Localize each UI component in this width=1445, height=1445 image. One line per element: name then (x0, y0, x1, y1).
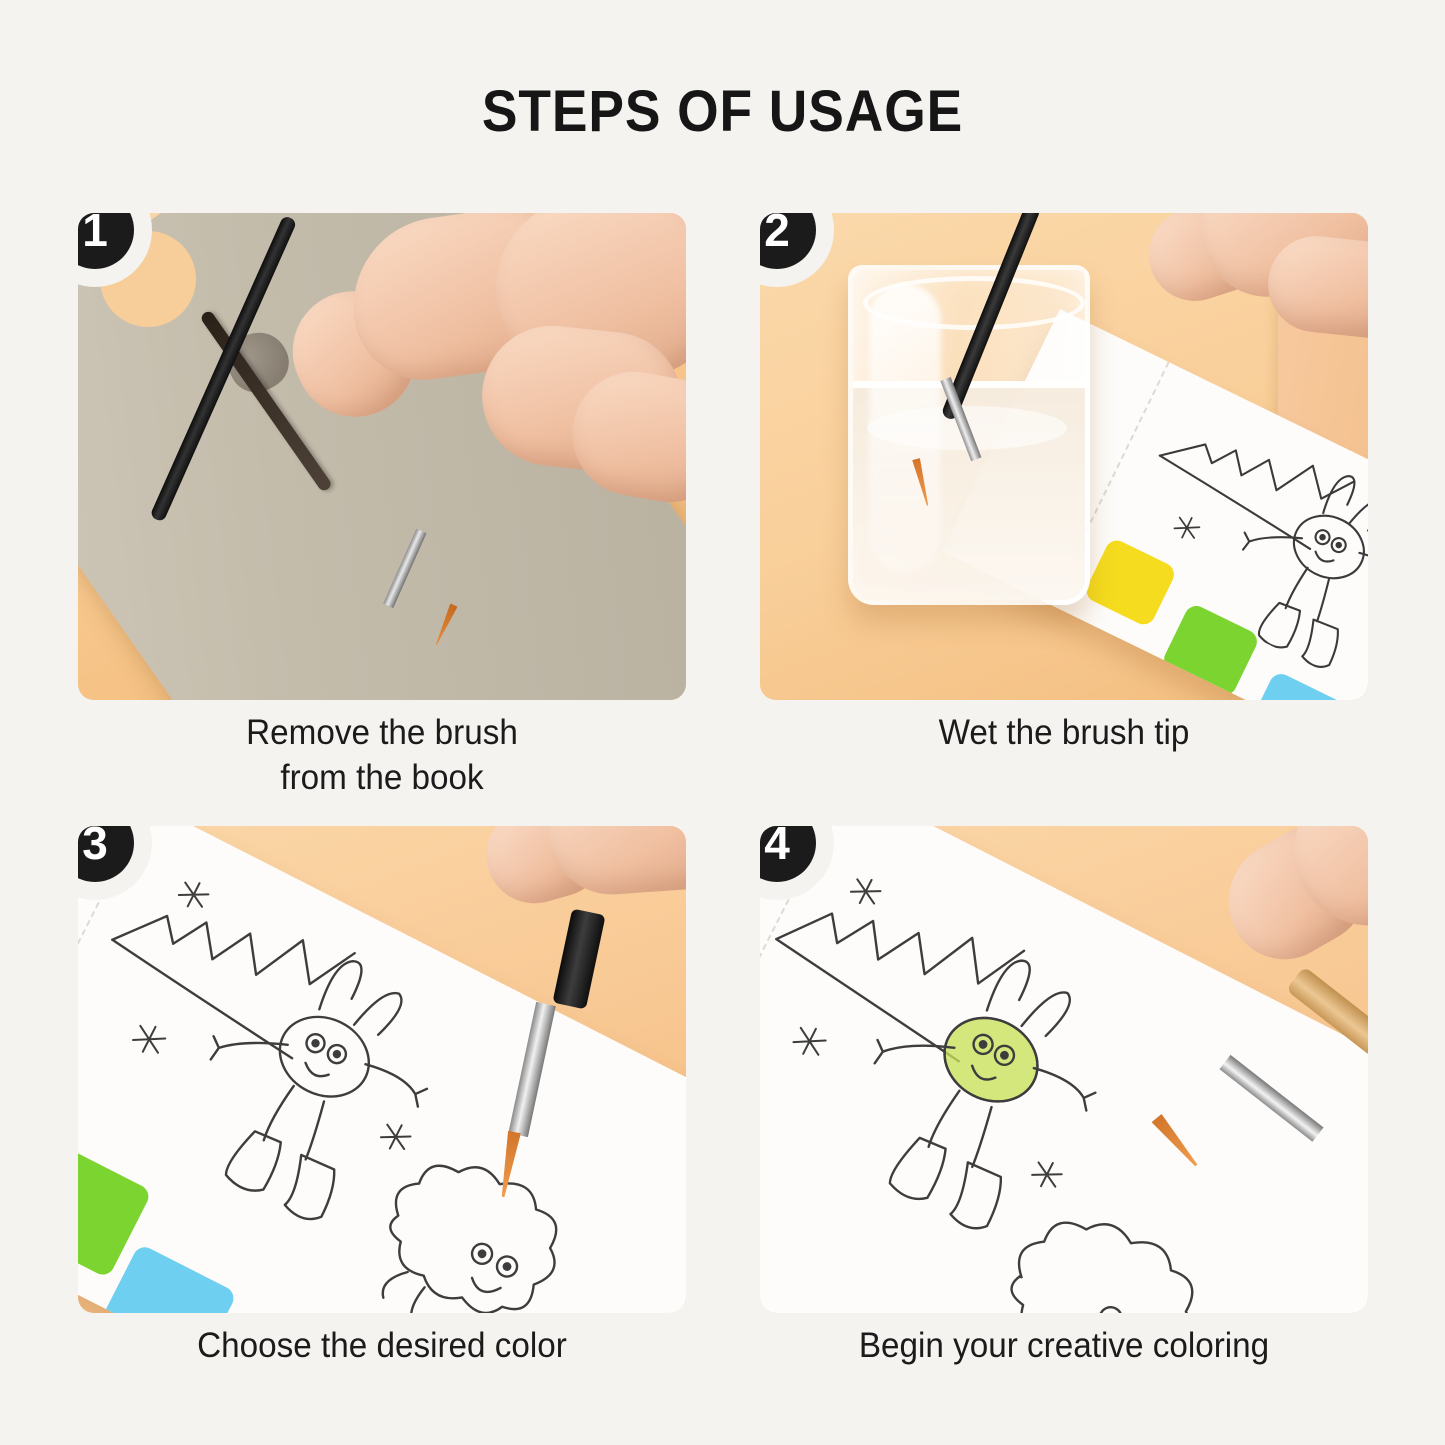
steps-grid: 1 Remove the brush from the book (78, 213, 1368, 1403)
step-3-caption: Choose the desired color (93, 1324, 671, 1369)
step-3-photo: 3 (78, 826, 686, 1313)
hand (286, 213, 686, 493)
page-title: STEPS OF USAGE (58, 78, 1387, 145)
step-2: 2 Wet the brush tip (760, 213, 1368, 700)
step-2-caption: Wet the brush tip (775, 711, 1353, 756)
step-4-caption: Begin your creative coloring (775, 1324, 1353, 1369)
hand (486, 826, 686, 956)
step-1-caption-line1: Remove the brush (246, 713, 518, 752)
step-1-caption: Remove the brush from the book (93, 711, 671, 801)
step-4: 4 Begin your creative coloring (760, 826, 1368, 1313)
step-2-caption-line1: Wet the brush tip (939, 713, 1190, 752)
step-1-caption-line2: from the book (93, 756, 671, 801)
step-4-caption-line1: Begin your creative coloring (859, 1326, 1269, 1365)
infographic-page: STEPS OF USAGE (0, 0, 1445, 1445)
step-3: 3 Choose the desired color (78, 826, 686, 1313)
glass-rim (863, 276, 1085, 330)
step-1: 1 Remove the brush from the book (78, 213, 686, 700)
hand (1148, 213, 1368, 363)
step-3-caption-line1: Choose the desired color (197, 1326, 567, 1365)
step-1-photo: 1 (78, 213, 686, 700)
step-4-photo: 4 (760, 826, 1368, 1313)
hand (1210, 826, 1368, 1006)
step-2-photo: 2 (760, 213, 1368, 700)
